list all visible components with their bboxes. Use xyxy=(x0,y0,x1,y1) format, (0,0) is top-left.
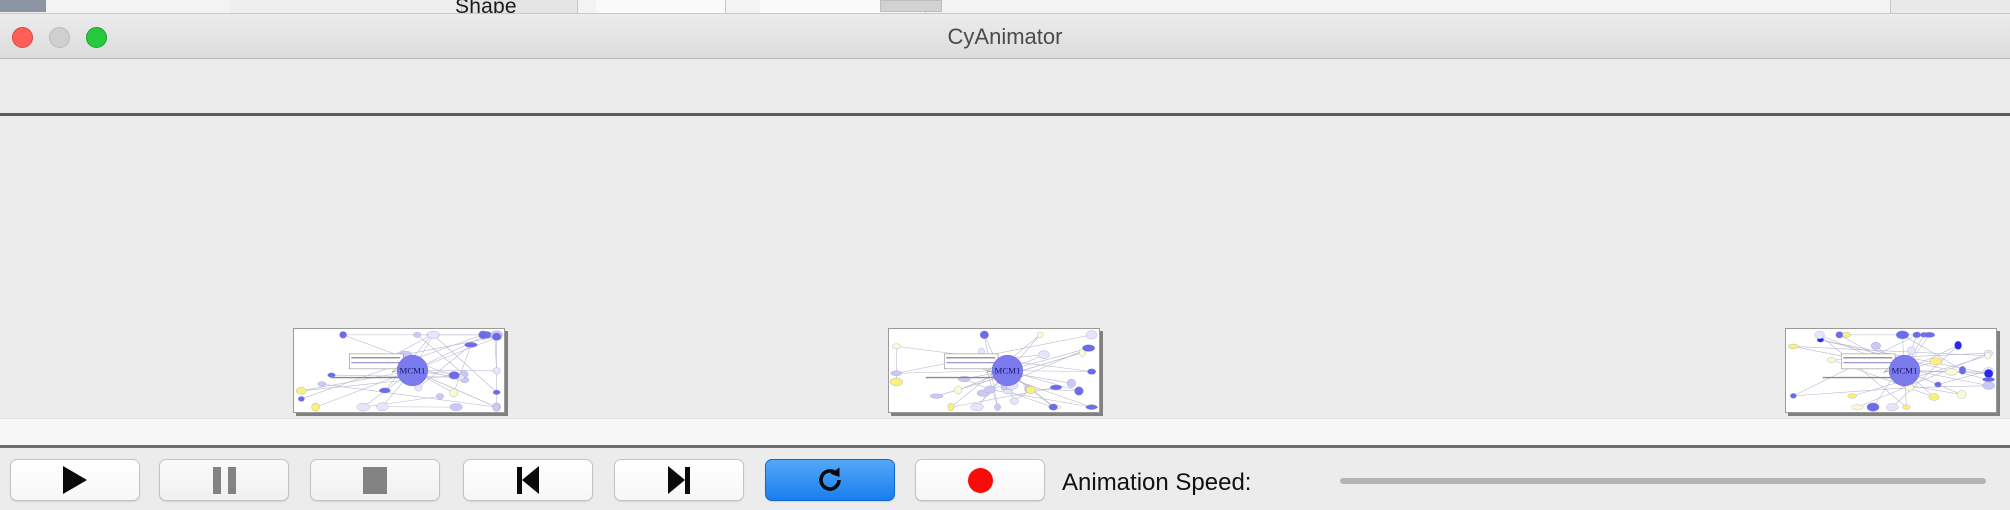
play-button[interactable] xyxy=(10,459,140,501)
skip-back-icon xyxy=(517,466,539,494)
record-button[interactable] xyxy=(915,459,1045,501)
pause-button[interactable] xyxy=(159,459,289,501)
timeline-frame-thumbnail[interactable]: MCM1 xyxy=(888,328,1100,413)
skip-forward-icon xyxy=(668,466,690,494)
svg-text:MCM1: MCM1 xyxy=(400,365,426,375)
svg-text:MCM1: MCM1 xyxy=(1892,365,1918,375)
cyanimator-window: Shape CyAnimator Clear All Frames MCM1MC… xyxy=(0,0,2010,510)
animation-speed-slider-track[interactable] xyxy=(1340,478,1986,484)
loop-button[interactable] xyxy=(765,459,895,501)
background-window-chunk xyxy=(1890,0,2010,14)
play-icon xyxy=(63,466,87,494)
network-graph: MCM1 xyxy=(889,329,1099,412)
skip-forward-button[interactable] xyxy=(614,459,744,501)
skip-back-button[interactable] xyxy=(463,459,593,501)
stop-button[interactable] xyxy=(310,459,440,501)
loop-icon xyxy=(815,465,845,495)
background-window-label: Shape xyxy=(455,0,517,14)
background-window-strip: Shape xyxy=(0,0,2010,14)
background-window-chunk xyxy=(880,0,942,12)
timeline-frame-thumbnail[interactable]: MCM1 xyxy=(293,328,505,413)
toolbar: Clear All Frames xyxy=(0,59,2010,114)
window-title: CyAnimator xyxy=(0,14,2010,59)
timeline-scrollbar-track[interactable] xyxy=(0,418,2010,448)
svg-text:MCM1: MCM1 xyxy=(995,365,1021,375)
stop-icon xyxy=(363,467,387,494)
background-window-chunk xyxy=(596,0,726,14)
record-icon xyxy=(968,468,993,493)
pause-icon xyxy=(213,467,236,494)
network-graph: MCM1 xyxy=(1786,329,1996,412)
network-graph: MCM1 xyxy=(294,329,504,412)
background-window-chunk xyxy=(0,0,46,12)
title-bar: CyAnimator xyxy=(0,14,2010,59)
background-window-chunk xyxy=(230,0,462,14)
timeline-frame-thumbnail[interactable]: MCM1 xyxy=(1785,328,1997,413)
animation-speed-label: Animation Speed: xyxy=(1062,469,1251,497)
timeline-panel[interactable]: MCM1MCM1MCM1 2131415161718 Seconds xyxy=(0,116,2010,421)
